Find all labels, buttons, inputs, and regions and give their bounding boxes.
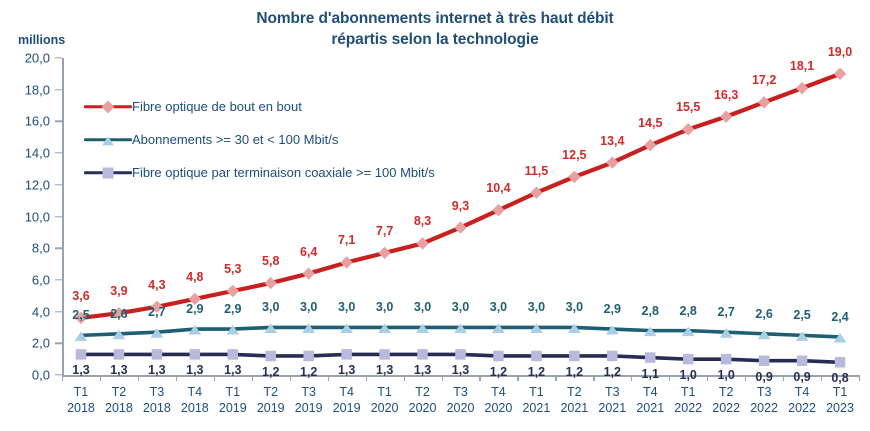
data-point-marker [569, 351, 580, 362]
y-axis-tick-mark [55, 311, 62, 312]
x-axis-tick-mark [821, 375, 822, 381]
x-axis-tick-label: T42021 [636, 384, 664, 416]
data-label-teal: 3,0 [452, 300, 469, 314]
data-point-marker [264, 323, 277, 333]
x-axis-year: 2019 [333, 400, 361, 416]
legend-marker-diamond-icon [102, 100, 115, 113]
legend-key-red-icon [84, 100, 132, 114]
data-point-marker [190, 349, 201, 360]
data-point-marker [797, 355, 808, 366]
data-label-teal: 3,0 [376, 300, 393, 314]
x-axis-quarter: T3 [750, 384, 778, 400]
data-point-marker [302, 267, 314, 279]
data-label-navy: 1,3 [452, 363, 469, 377]
data-label-navy: 0,8 [831, 371, 848, 385]
x-axis-tick-label: T12019 [219, 384, 247, 416]
y-axis-tick-label: 20,0 [25, 51, 50, 66]
x-axis-year: 2022 [674, 400, 702, 416]
data-label-teal: 2,7 [148, 305, 165, 319]
y-axis-tick-label: 2,0 [32, 336, 50, 351]
data-label-navy: 1,2 [262, 365, 279, 379]
data-label-red: 17,2 [752, 73, 776, 87]
data-point-marker [265, 277, 277, 289]
x-axis-tick-label: T32022 [750, 384, 778, 416]
data-label-teal: 2,6 [110, 307, 127, 321]
data-point-marker [150, 328, 163, 338]
data-point-marker [227, 285, 239, 297]
data-point-marker [340, 323, 353, 333]
data-label-teal: 3,0 [338, 300, 355, 314]
x-axis-year: 2019 [295, 400, 323, 416]
data-point-marker [721, 354, 732, 365]
x-axis-tick-mark [442, 375, 443, 381]
data-label-navy: 1,2 [300, 365, 317, 379]
x-axis-tick-label: T12022 [674, 384, 702, 416]
data-label-red: 15,5 [676, 100, 700, 114]
data-point-marker [682, 123, 694, 135]
y-axis-tick-mark [55, 216, 62, 217]
x-axis-quarter: T4 [485, 384, 513, 400]
y-axis-tick-label: 4,0 [32, 304, 50, 319]
x-axis-tick-label: T32021 [598, 384, 626, 416]
data-point-marker [152, 349, 163, 360]
data-label-teal: 2,6 [755, 307, 772, 321]
data-label-navy: 1,3 [148, 363, 165, 377]
x-axis-tick-label: T22022 [712, 384, 740, 416]
x-axis-year: 2022 [788, 400, 816, 416]
x-axis-tick-mark [555, 375, 556, 381]
x-axis-year: 2021 [522, 400, 550, 416]
data-label-red: 5,3 [224, 262, 241, 276]
y-axis-tick-mark [55, 57, 62, 58]
series-plot [0, 0, 870, 431]
x-axis-tick-mark [252, 375, 253, 381]
x-axis-tick-label: T42019 [333, 384, 361, 416]
x-axis-year: 2019 [219, 400, 247, 416]
data-label-teal: 3,0 [262, 300, 279, 314]
x-axis-quarter: T1 [67, 384, 95, 400]
legend-label: Fibre optique par terminaison coaxiale >… [132, 165, 435, 180]
data-label-teal: 3,0 [300, 300, 317, 314]
legend-item-red[interactable]: Fibre optique de bout en bout [84, 90, 435, 123]
data-label-red: 10,4 [486, 181, 510, 195]
data-label-navy: 1,2 [528, 365, 545, 379]
x-axis-tick-mark [859, 375, 860, 381]
y-axis-tick-label: 10,0 [25, 209, 50, 224]
x-axis-quarter: T2 [712, 384, 740, 400]
x-axis-quarter: T4 [788, 384, 816, 400]
x-axis-year: 2020 [447, 400, 475, 416]
data-point-marker [531, 351, 542, 362]
data-point-marker [644, 327, 657, 337]
x-axis-tick-mark [593, 375, 594, 381]
x-axis-tick-label: T12018 [67, 384, 95, 416]
data-label-teal: 2,7 [717, 305, 734, 319]
data-label-navy: 1,2 [490, 365, 507, 379]
x-axis-year: 2018 [105, 400, 133, 416]
data-point-marker [834, 333, 847, 343]
data-point-marker [341, 349, 352, 360]
x-axis-quarter: T2 [257, 384, 285, 400]
data-label-teal: 2,8 [680, 304, 697, 318]
data-point-marker [378, 323, 391, 333]
data-label-red: 3,9 [110, 284, 127, 298]
y-axis-tick-mark [55, 89, 62, 90]
data-point-marker [607, 351, 618, 362]
chart-title-line-2: répartis selon la technologie [180, 29, 690, 50]
x-axis-tick-mark [366, 375, 367, 381]
data-point-marker [796, 82, 808, 94]
x-axis-quarter: T3 [143, 384, 171, 400]
data-point-marker [454, 323, 467, 333]
data-label-navy: 1,0 [680, 368, 697, 382]
data-point-marker [379, 349, 390, 360]
data-point-marker [416, 323, 429, 333]
data-point-marker [493, 351, 504, 362]
data-label-teal: 2,8 [642, 304, 659, 318]
series-line-teal [81, 327, 840, 337]
data-label-teal: 2,9 [604, 302, 621, 316]
x-axis-year: 2018 [67, 400, 95, 416]
y-axis-tick-label: 16,0 [25, 114, 50, 129]
y-axis-tick-mark [55, 121, 62, 122]
legend-key-navy-icon [84, 166, 132, 180]
data-label-navy: 0,9 [755, 370, 772, 384]
data-label-navy: 1,3 [110, 363, 127, 377]
x-axis-tick-label: T12020 [371, 384, 399, 416]
data-point-marker [492, 204, 504, 216]
y-axis-tick-label: 14,0 [25, 146, 50, 161]
data-point-marker [455, 349, 466, 360]
x-axis-year: 2019 [257, 400, 285, 416]
x-axis-tick-label: T42020 [485, 384, 513, 416]
data-label-teal: 2,5 [793, 308, 810, 322]
x-axis-quarter: T3 [447, 384, 475, 400]
x-axis-year: 2023 [826, 400, 854, 416]
data-label-teal: 3,0 [566, 300, 583, 314]
data-label-navy: 1,2 [566, 365, 583, 379]
data-label-navy: 1,2 [604, 365, 621, 379]
x-axis-tick-label: T22018 [105, 384, 133, 416]
x-axis-tick-mark [745, 375, 746, 381]
x-axis-tick-mark [404, 375, 405, 381]
data-label-navy: 1,1 [642, 367, 659, 381]
data-label-red: 16,3 [714, 88, 738, 102]
data-label-navy: 1,3 [338, 363, 355, 377]
data-point-marker [645, 352, 656, 363]
data-point-marker [303, 351, 314, 362]
y-axis-tick-mark [55, 184, 62, 185]
y-axis-tick-mark [55, 374, 62, 375]
data-point-marker [416, 237, 428, 249]
data-label-teal: 3,0 [490, 300, 507, 314]
legend-key-teal-icon [84, 133, 132, 147]
chart-title: Nombre d'abonnements internet à très hau… [180, 8, 690, 50]
y-axis-tick-label: 8,0 [32, 241, 50, 256]
legend-marker-square-icon [103, 167, 114, 178]
x-axis-tick-mark [214, 375, 215, 381]
data-label-red: 11,5 [525, 164, 549, 178]
data-label-red: 18,1 [790, 59, 814, 73]
data-point-marker [76, 349, 87, 360]
x-axis-quarter: T2 [105, 384, 133, 400]
data-label-red: 4,8 [186, 270, 203, 284]
data-label-red: 13,4 [600, 134, 624, 148]
data-label-red: 6,4 [300, 245, 317, 259]
data-point-marker [114, 349, 125, 360]
data-point-marker [758, 96, 770, 108]
x-axis-quarter: T1 [826, 384, 854, 400]
data-point-marker [568, 323, 581, 333]
data-point-marker [758, 330, 771, 340]
x-axis-tick-mark [783, 375, 784, 381]
x-axis-tick-label: T12021 [522, 384, 550, 416]
series-teal [75, 323, 847, 342]
data-label-teal: 2,9 [186, 302, 203, 316]
data-point-marker [682, 327, 695, 337]
y-axis-unit-label: millions [18, 33, 65, 47]
x-axis-quarter: T3 [598, 384, 626, 400]
data-label-red: 5,8 [262, 254, 279, 268]
data-point-marker [606, 325, 619, 335]
data-point-marker [228, 349, 239, 360]
x-axis-year: 2020 [485, 400, 513, 416]
data-label-red: 8,3 [414, 214, 431, 228]
y-axis-tick-label: 6,0 [32, 272, 50, 287]
data-label-red: 12,5 [562, 148, 586, 162]
data-point-marker [835, 357, 846, 368]
x-axis-quarter: T1 [371, 384, 399, 400]
data-label-red: 4,3 [148, 278, 165, 292]
data-point-marker [113, 330, 126, 340]
data-label-red: 3,6 [72, 289, 89, 303]
x-axis-tick-mark [631, 375, 632, 381]
data-label-navy: 1,3 [376, 363, 393, 377]
x-axis-year: 2018 [181, 400, 209, 416]
x-axis-year: 2022 [712, 400, 740, 416]
x-axis-tick-label: T22019 [257, 384, 285, 416]
data-point-marker [340, 256, 352, 268]
x-axis-tick-mark [176, 375, 177, 381]
y-axis-tick-label: 12,0 [25, 177, 50, 192]
x-axis-tick-mark [328, 375, 329, 381]
data-point-marker [720, 328, 733, 338]
data-point-marker [188, 325, 201, 335]
data-point-marker [226, 325, 239, 335]
data-label-navy: 1,3 [414, 363, 431, 377]
y-axis-line [62, 58, 64, 376]
data-point-marker [568, 171, 580, 183]
data-point-marker [378, 247, 390, 259]
data-label-red: 7,1 [338, 233, 355, 247]
data-point-marker [530, 323, 543, 333]
data-label-teal: 2,9 [224, 302, 241, 316]
data-label-teal: 2,4 [831, 310, 848, 324]
x-axis-tick-mark [517, 375, 518, 381]
x-axis-tick-mark [138, 375, 139, 381]
x-axis-quarter: T2 [560, 384, 588, 400]
x-axis-quarter: T2 [409, 384, 437, 400]
x-axis-quarter: T1 [219, 384, 247, 400]
data-point-marker [492, 323, 505, 333]
x-axis-tick-mark [669, 375, 670, 381]
legend-item-teal[interactable]: Abonnements >= 30 et < 100 Mbit/s [84, 123, 435, 156]
x-axis-tick-label: T42018 [181, 384, 209, 416]
legend-label: Fibre optique de bout en bout [132, 99, 302, 114]
x-axis-tick-mark [707, 375, 708, 381]
y-axis-tick-mark [55, 152, 62, 153]
data-label-teal: 3,0 [414, 300, 431, 314]
legend-label: Abonnements >= 30 et < 100 Mbit/s [132, 132, 338, 147]
x-axis-tick-mark [290, 375, 291, 381]
x-axis-tick-mark [62, 375, 63, 381]
x-axis-tick-label: T42022 [788, 384, 816, 416]
data-label-red: 7,7 [376, 224, 393, 238]
x-axis-year: 2021 [598, 400, 626, 416]
data-point-marker [454, 221, 466, 233]
data-label-navy: 1,0 [717, 368, 734, 382]
x-axis-quarter: T4 [181, 384, 209, 400]
x-axis-year: 2021 [560, 400, 588, 416]
x-axis-quarter: T4 [636, 384, 664, 400]
data-point-marker [265, 351, 276, 362]
data-label-navy: 1,3 [186, 363, 203, 377]
x-axis-tick-mark [479, 375, 480, 381]
data-point-marker [759, 355, 770, 366]
legend-marker-triangle-icon [102, 136, 114, 145]
x-axis-quarter: T3 [295, 384, 323, 400]
x-axis-tick-label: T22021 [560, 384, 588, 416]
x-axis-quarter: T4 [333, 384, 361, 400]
data-label-navy: 1,3 [72, 363, 89, 377]
y-axis-tick-label: 0,0 [32, 368, 50, 383]
data-point-marker [302, 323, 315, 333]
data-label-teal: 3,0 [528, 300, 545, 314]
data-label-red: 14,5 [638, 116, 662, 130]
x-axis-year: 2022 [750, 400, 778, 416]
y-axis-tick-label: 18,0 [25, 82, 50, 97]
data-point-marker [796, 331, 809, 341]
data-label-red: 9,3 [452, 199, 469, 213]
data-label-teal: 2,5 [72, 308, 89, 322]
data-point-marker [644, 139, 656, 151]
x-axis-year: 2020 [409, 400, 437, 416]
data-point-marker [834, 68, 846, 80]
data-label-navy: 1,3 [224, 363, 241, 377]
chart-title-line-1: Nombre d'abonnements internet à très hau… [180, 8, 690, 29]
x-axis-quarter: T1 [522, 384, 550, 400]
x-axis-year: 2020 [371, 400, 399, 416]
series-line-navy [81, 354, 840, 362]
y-axis-tick-mark [55, 279, 62, 280]
data-point-marker [720, 110, 732, 122]
x-axis-tick-label: T12023 [826, 384, 854, 416]
legend-item-navy[interactable]: Fibre optique par terminaison coaxiale >… [84, 156, 435, 189]
x-axis-year: 2018 [143, 400, 171, 416]
y-axis-tick-mark [55, 343, 62, 344]
chart-container: Nombre d'abonnements internet à très hau… [0, 0, 870, 431]
data-point-marker [683, 354, 694, 365]
data-point-marker [75, 331, 88, 341]
data-label-red: 19,0 [828, 45, 852, 59]
data-label-navy: 0,9 [793, 370, 810, 384]
x-axis-quarter: T1 [674, 384, 702, 400]
x-axis-tick-label: T22020 [409, 384, 437, 416]
x-axis-tick-label: T32020 [447, 384, 475, 416]
y-axis-tick-mark [55, 247, 62, 248]
data-point-marker [606, 156, 618, 168]
data-point-marker [530, 187, 542, 199]
x-axis-year: 2021 [636, 400, 664, 416]
x-axis-tick-label: T32019 [295, 384, 323, 416]
x-axis-tick-mark [100, 375, 101, 381]
chart-legend: Fibre optique de bout en boutAbonnements… [84, 90, 435, 189]
data-point-marker [417, 349, 428, 360]
x-axis-tick-label: T32018 [143, 384, 171, 416]
